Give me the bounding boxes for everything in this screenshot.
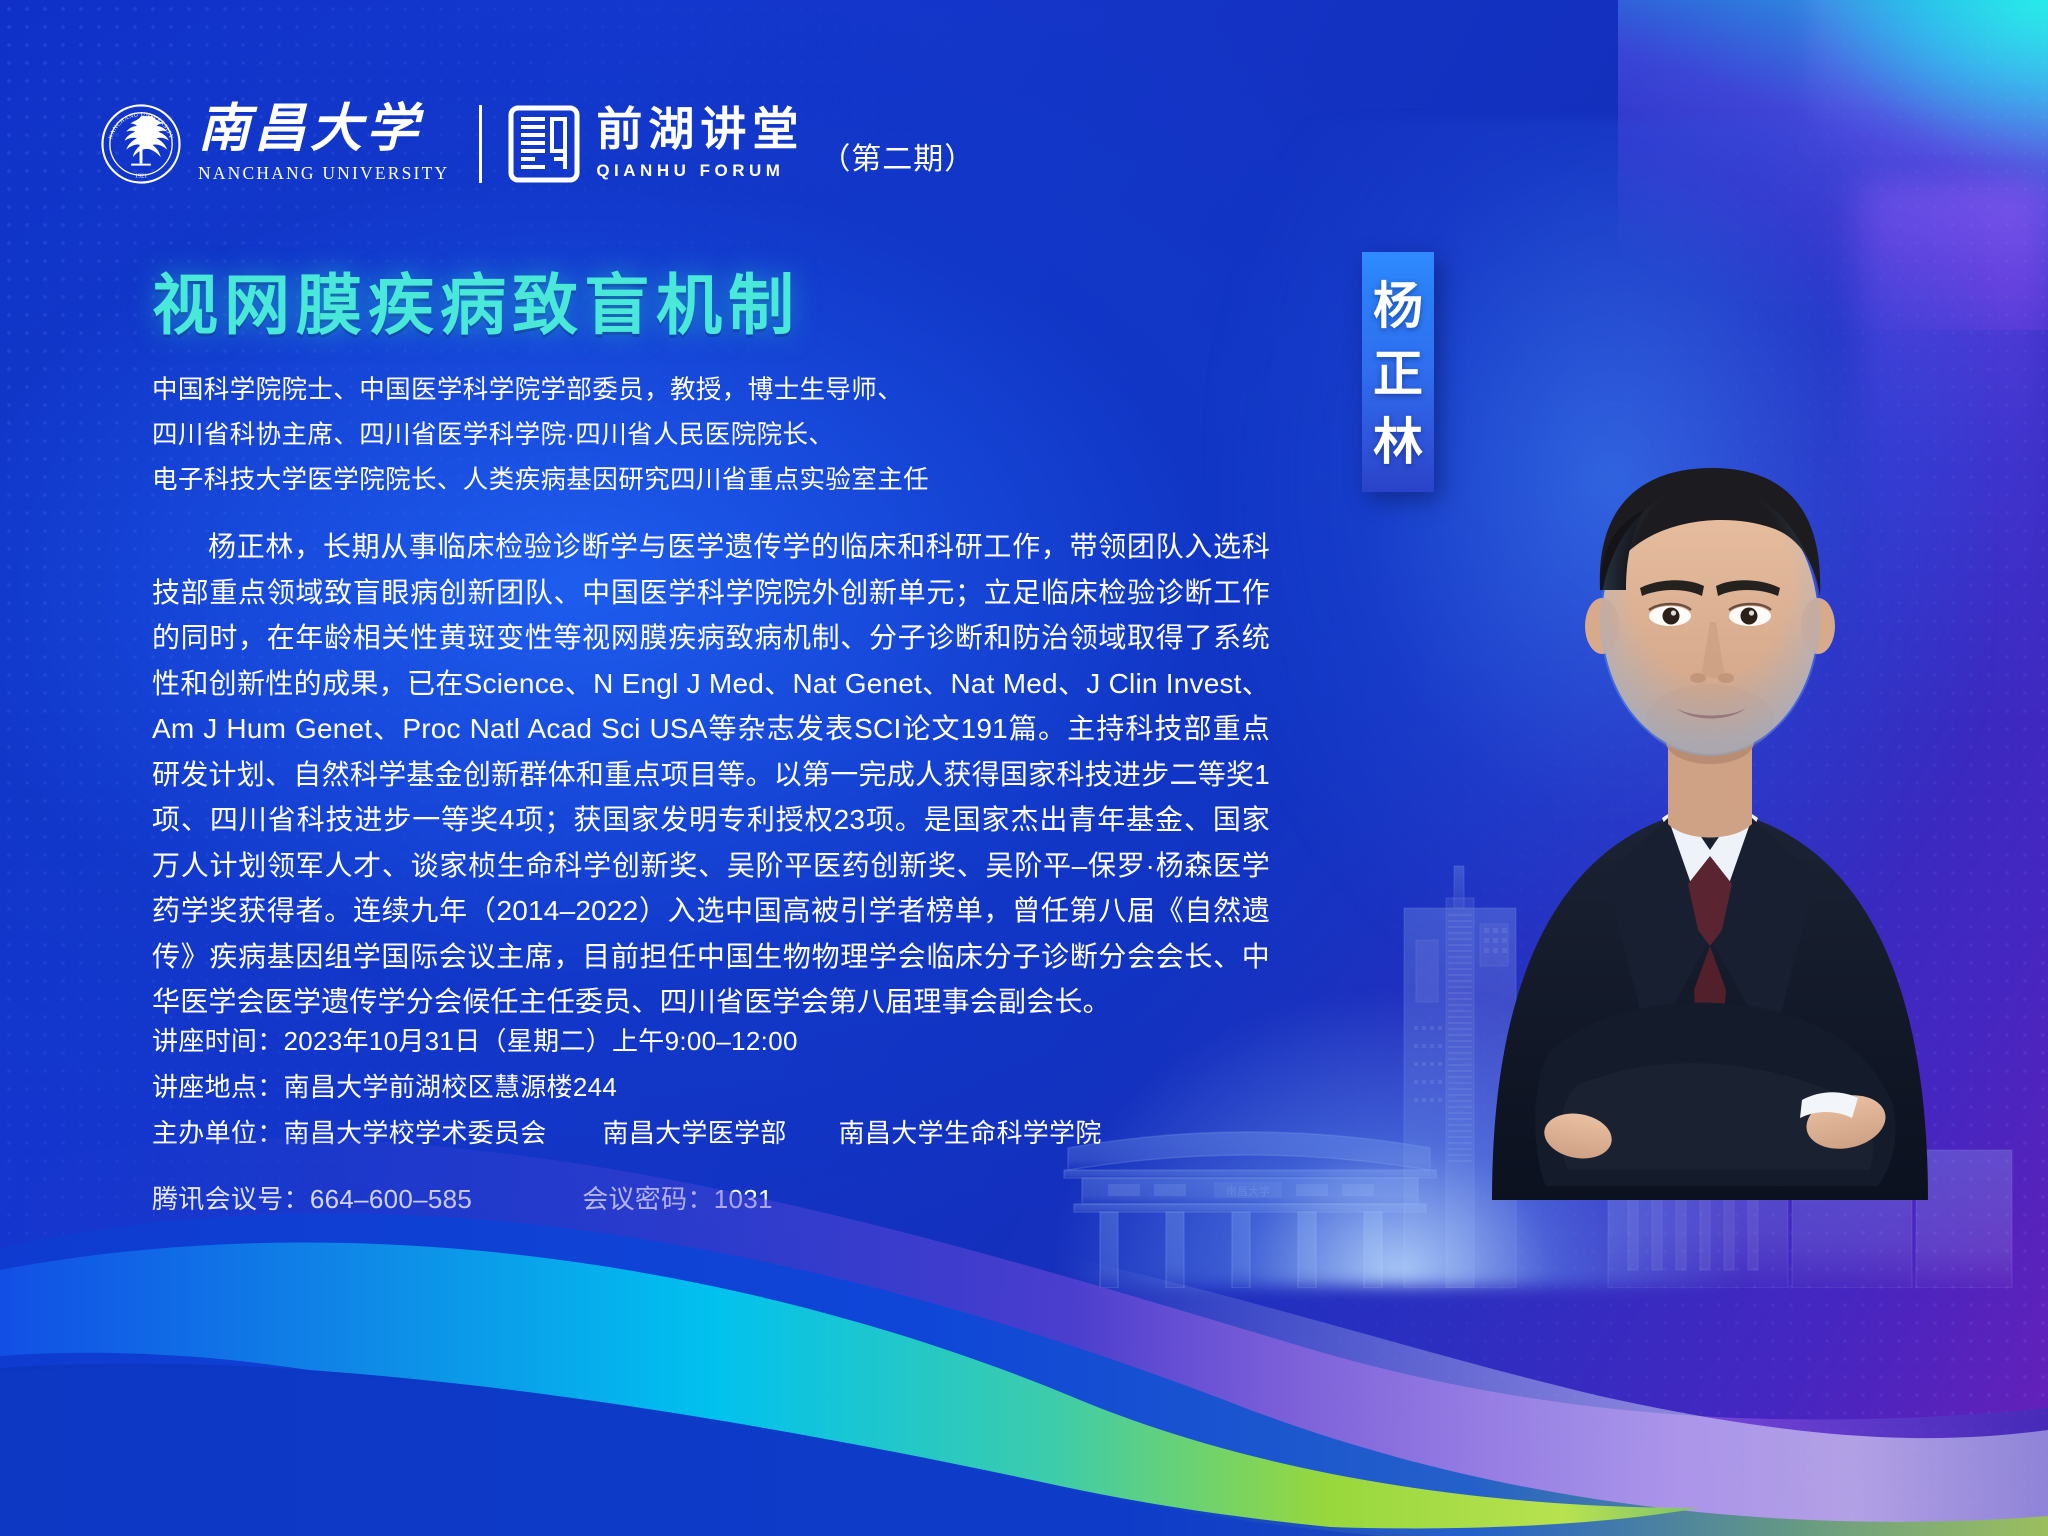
university-name-en: NANCHANG UNIVERSITY [198, 163, 449, 184]
credential-line: 中国科学院院士、中国医学科学院学部委员，教授，博士生导师、 [152, 368, 929, 413]
lecture-place-value: 南昌大学前湖校区慧源楼244 [284, 1064, 618, 1110]
credential-line: 电子科技大学医学院院长、人类疾病基因研究四川省重点实验室主任 [152, 458, 929, 503]
lecture-host-label: 主办单位： [152, 1110, 284, 1156]
forum-name-cn: 前湖讲堂 [596, 107, 804, 153]
lecture-title: 视网膜疾病致盲机制 [152, 252, 800, 348]
speaker-biography: 杨正林，长期从事临床检验诊断学与医学遗传学的临床和科研工作，带领团队入选科技部重… [152, 524, 1270, 1025]
qianhu-seal-mark-icon [508, 105, 580, 183]
lecture-place-label: 讲座地点： [152, 1064, 284, 1110]
host-organization: 南昌大学生命科学学院 [839, 1110, 1102, 1156]
lecture-place-row: 讲座地点： 南昌大学前湖校区慧源楼244 [152, 1064, 1102, 1110]
meeting-id-label: 腾讯会议号： [152, 1176, 310, 1222]
meeting-password-label: 会议密码： [582, 1176, 714, 1222]
host-spacer [547, 1110, 603, 1156]
meeting-id-value: 664–600–585 [310, 1176, 472, 1222]
lecture-info-block: 讲座时间： 2023年10月31日（星期二）上午9:00–12:00 讲座地点：… [152, 1018, 1102, 1222]
university-lockup: 南昌大学 NANCHANG UNIVERSITY [198, 104, 449, 184]
host-spacer [787, 1110, 839, 1156]
credential-line: 四川省科协主席、四川省医学科学院·四川省人民医院院长、 [152, 413, 929, 458]
forum-edition-label: （第二期） [820, 134, 975, 178]
meeting-password-value: 1031 [714, 1176, 773, 1222]
rainbow-edge-decoration [1618, 0, 2048, 330]
speaker-portrait-image [1400, 290, 2020, 1220]
svg-text:1921: 1921 [135, 174, 147, 180]
header-divider [479, 105, 482, 183]
poster-canvas: 1921 NANCHANG UNIVERSITY 南昌大学 NANCHANG U… [0, 0, 2048, 1536]
rainbow-corner-glow [1808, 0, 2048, 160]
lecture-time-label: 讲座时间： [152, 1018, 284, 1064]
poster-header: 1921 NANCHANG UNIVERSITY 南昌大学 NANCHANG U… [100, 98, 975, 190]
lecture-time-value: 2023年10月31日（星期二）上午9:00–12:00 [284, 1018, 798, 1064]
host-organization: 南昌大学校学术委员会 [284, 1110, 547, 1156]
forum-name-en: QIANHU FORUM [596, 161, 804, 181]
nanchang-university-crest-icon: 1921 NANCHANG UNIVERSITY [100, 103, 182, 185]
svg-text:南昌大学: 南昌大学 [1226, 1184, 1270, 1198]
lecture-host-row: 主办单位： 南昌大学校学术委员会 南昌大学医学部 南昌大学生命科学学院 [152, 1110, 1102, 1156]
lecture-time-row: 讲座时间： 2023年10月31日（星期二）上午9:00–12:00 [152, 1018, 1102, 1064]
host-organization: 南昌大学医学部 [603, 1110, 787, 1156]
meeting-spacer [472, 1176, 582, 1222]
university-name-cn: 南昌大学 [198, 104, 449, 156]
speaker-credentials: 中国科学院院士、中国医学科学院学部委员，教授，博士生导师、 四川省科协主席、四川… [152, 368, 929, 503]
online-meeting-row: 腾讯会议号： 664–600–585 会议密码： 1031 [152, 1176, 1102, 1222]
forum-lockup: 前湖讲堂 QIANHU FORUM [596, 107, 804, 181]
